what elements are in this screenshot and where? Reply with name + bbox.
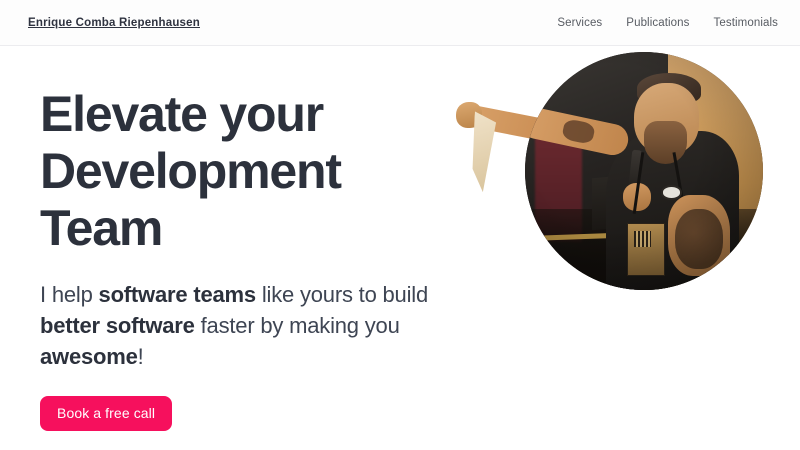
hero-portrait bbox=[450, 40, 770, 350]
hero-subtitle: I help software teams like yours to buil… bbox=[40, 279, 440, 372]
brand-logo[interactable]: Enrique Comba Riepenhausen bbox=[28, 17, 200, 29]
subtitle-part-4: ! bbox=[138, 344, 144, 369]
nav-link-publications[interactable]: Publications bbox=[626, 17, 689, 29]
subtitle-part-3: faster by making you bbox=[195, 313, 400, 338]
hero-section: Elevate your Development Team I help sof… bbox=[0, 46, 800, 450]
subtitle-bold-3: awesome bbox=[40, 344, 138, 369]
book-a-free-call-button[interactable]: Book a free call bbox=[40, 396, 172, 431]
portrait-circle-image bbox=[525, 52, 763, 290]
nav-link-testimonials[interactable]: Testimonials bbox=[714, 17, 778, 29]
subtitle-bold-2: better software bbox=[40, 313, 195, 338]
main-navigation: Services Publications Testimonials bbox=[557, 17, 778, 29]
hero-copy: Elevate your Development Team I help sof… bbox=[40, 86, 470, 431]
photo-vignette bbox=[525, 52, 763, 290]
page-title: Elevate your Development Team bbox=[40, 86, 380, 257]
subtitle-bold-1: software teams bbox=[99, 282, 256, 307]
subtitle-part-2: like yours to build bbox=[256, 282, 428, 307]
subtitle-part-1: I help bbox=[40, 282, 99, 307]
nav-link-services[interactable]: Services bbox=[557, 17, 602, 29]
